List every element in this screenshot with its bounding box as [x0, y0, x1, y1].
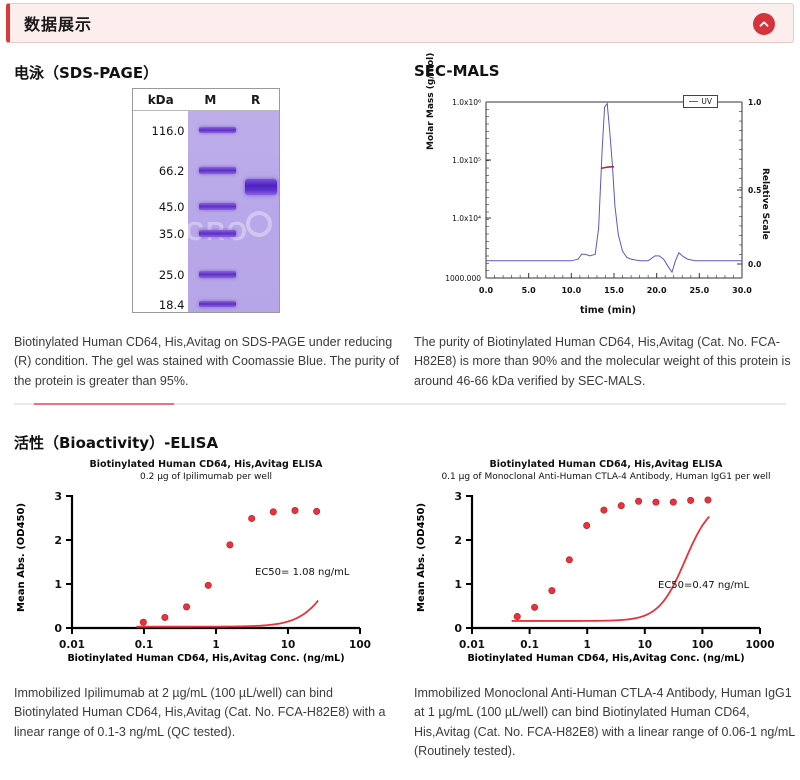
svg-text:1: 1 — [212, 639, 219, 651]
legend-label-uv: UV — [701, 97, 712, 106]
svg-text:5.0: 5.0 — [522, 286, 537, 295]
svg-text:0: 0 — [454, 622, 462, 635]
svg-text:30.0: 30.0 — [732, 286, 752, 295]
elisa-left-title: Biotinylated Human CD64, His,Avitag ELIS… — [20, 458, 392, 472]
caption-sdspage: Biotinylated Human CD64, His,Avitag on S… — [14, 333, 400, 391]
gel-band-marker-35 — [199, 230, 235, 237]
elisa-right-x-axis-label: Biotinylated Human CD64, His,Avitag Conc… — [420, 653, 792, 664]
secmals-y2-axis-label: Relative Scale — [760, 168, 770, 240]
svg-text:0.1: 0.1 — [135, 639, 154, 651]
svg-text:1.0: 1.0 — [748, 98, 761, 107]
legend-line-swatch — [689, 101, 698, 102]
secmals-x-axis-label: time (min) — [424, 305, 792, 316]
gel-header-kda: kDa — [133, 89, 188, 110]
section-divider — [14, 403, 786, 405]
elisa-right-y-axis-label: Mean Abs. (OD450) — [416, 503, 427, 612]
svg-text:1.0x10⁴: 1.0x10⁴ — [452, 214, 481, 223]
collapse-panel-button[interactable] — [753, 13, 775, 35]
gel-header-marker: M — [188, 89, 232, 110]
svg-text:0.0: 0.0 — [748, 260, 761, 269]
chevron-up-icon — [758, 18, 770, 30]
elisa-right-title: Biotinylated Human CD64, His,Avitag ELIS… — [420, 458, 792, 472]
gel-lane-area: ACRO — [188, 111, 279, 312]
gel-column-headers: kDa M R — [133, 89, 279, 111]
svg-text:0.0: 0.0 — [479, 286, 494, 295]
svg-text:1: 1 — [454, 578, 462, 591]
secmals-chart: Molar Mass (g/mol) Relative Scale time (… — [424, 88, 792, 316]
svg-text:100: 100 — [349, 639, 371, 651]
svg-text:15.0: 15.0 — [604, 286, 624, 295]
elisa-left-y-axis-label: Mean Abs. (OD450) — [16, 503, 27, 612]
gel-label-116: 116.0 — [152, 124, 185, 138]
data-display-page: 数据展示 电泳（SDS-PAGE） SEC-MALS kDa M R ACRO — [0, 0, 800, 780]
gel-label-25: 25.0 — [159, 268, 185, 282]
gel-ladder-labels: 116.0 66.2 45.0 35.0 25.0 18.4 14.4 — [133, 111, 188, 312]
svg-text:10: 10 — [637, 639, 652, 651]
gel-band-sample-r — [245, 179, 278, 195]
gel-band-marker-116 — [199, 127, 235, 133]
elisa-left-x-axis-label: Biotinylated Human CD64, His,Avitag Conc… — [20, 653, 392, 664]
page-title: 数据展示 — [24, 11, 92, 35]
gel-label-35: 35.0 — [159, 227, 185, 241]
caption-secmals: The purity of Biotinylated Human CD64, H… — [414, 333, 800, 391]
gel-band-marker-18 — [199, 301, 235, 307]
svg-text:10: 10 — [281, 639, 296, 651]
svg-text:0.1: 0.1 — [520, 639, 539, 651]
svg-text:20.0: 20.0 — [647, 286, 667, 295]
svg-text:100: 100 — [691, 639, 713, 651]
section-heading-bioactivity: 活性（Bioactivity）-ELISA — [14, 432, 218, 453]
svg-text:0.01: 0.01 — [459, 639, 485, 651]
sdspage-gel-image: kDa M R ACRO 116.0 66.2 — [132, 88, 280, 313]
elisa-left-ec50-annotation: EC50= 1.08 ng/mL — [255, 567, 349, 578]
elisa-right-plot-svg: 01230.010.11101001000 — [420, 482, 792, 662]
svg-text:3: 3 — [454, 490, 462, 503]
watermark-circle — [246, 211, 272, 237]
svg-text:0: 0 — [54, 622, 62, 635]
svg-text:3: 3 — [54, 490, 62, 503]
elisa-right-subtitle: 0.1 µg of Monoclonal Anti-Human CTLA-4 A… — [420, 472, 792, 482]
secmals-legend: UV — [683, 95, 718, 108]
svg-text:1.0x10⁶: 1.0x10⁶ — [452, 98, 481, 107]
section-heading-sdspage: 电泳（SDS-PAGE） — [14, 62, 158, 83]
svg-text:25.0: 25.0 — [689, 286, 709, 295]
gel-band-marker-25 — [199, 271, 235, 278]
svg-text:2: 2 — [454, 534, 462, 547]
svg-text:1000.000: 1000.000 — [445, 274, 481, 283]
svg-text:1.0x10⁵: 1.0x10⁵ — [452, 156, 481, 165]
elisa-chart-ctla4: Biotinylated Human CD64, His,Avitag ELIS… — [420, 458, 792, 673]
gel-label-18: 18.4 — [159, 298, 185, 312]
panel-header: 数据展示 — [6, 3, 794, 43]
elisa-right-ec50-annotation: EC50=0.47 ng/mL — [658, 580, 749, 591]
gel-band-marker-45 — [199, 203, 235, 210]
svg-text:1000: 1000 — [745, 639, 774, 651]
svg-text:2: 2 — [54, 534, 62, 547]
gel-label-45: 45.0 — [159, 200, 185, 214]
secmals-plot-svg: 1.0x10⁶1.0x10⁵1.0x10⁴1000.0001.00.50.00.… — [424, 88, 792, 316]
caption-elisa-ctla4: Immobilized Monoclonal Anti-Human CTLA-4… — [414, 684, 800, 762]
svg-text:10.0: 10.0 — [561, 286, 581, 295]
elisa-chart-ipilimumab: Biotinylated Human CD64, His,Avitag ELIS… — [20, 458, 392, 673]
gel-header-reducing: R — [232, 89, 279, 110]
secmals-y-axis-label: Molar Mass (g/mol) — [426, 53, 436, 150]
svg-text:0.01: 0.01 — [59, 639, 85, 651]
gel-band-marker-66 — [199, 167, 235, 174]
svg-text:1: 1 — [54, 578, 62, 591]
svg-text:1: 1 — [584, 639, 591, 651]
gel-label-66: 66.2 — [159, 164, 185, 178]
elisa-left-subtitle: 0.2 µg of Ipilimumab per well — [20, 472, 392, 482]
caption-elisa-ipilimumab: Immobilized Ipilimumab at 2 µg/mL (100 µ… — [14, 684, 400, 742]
